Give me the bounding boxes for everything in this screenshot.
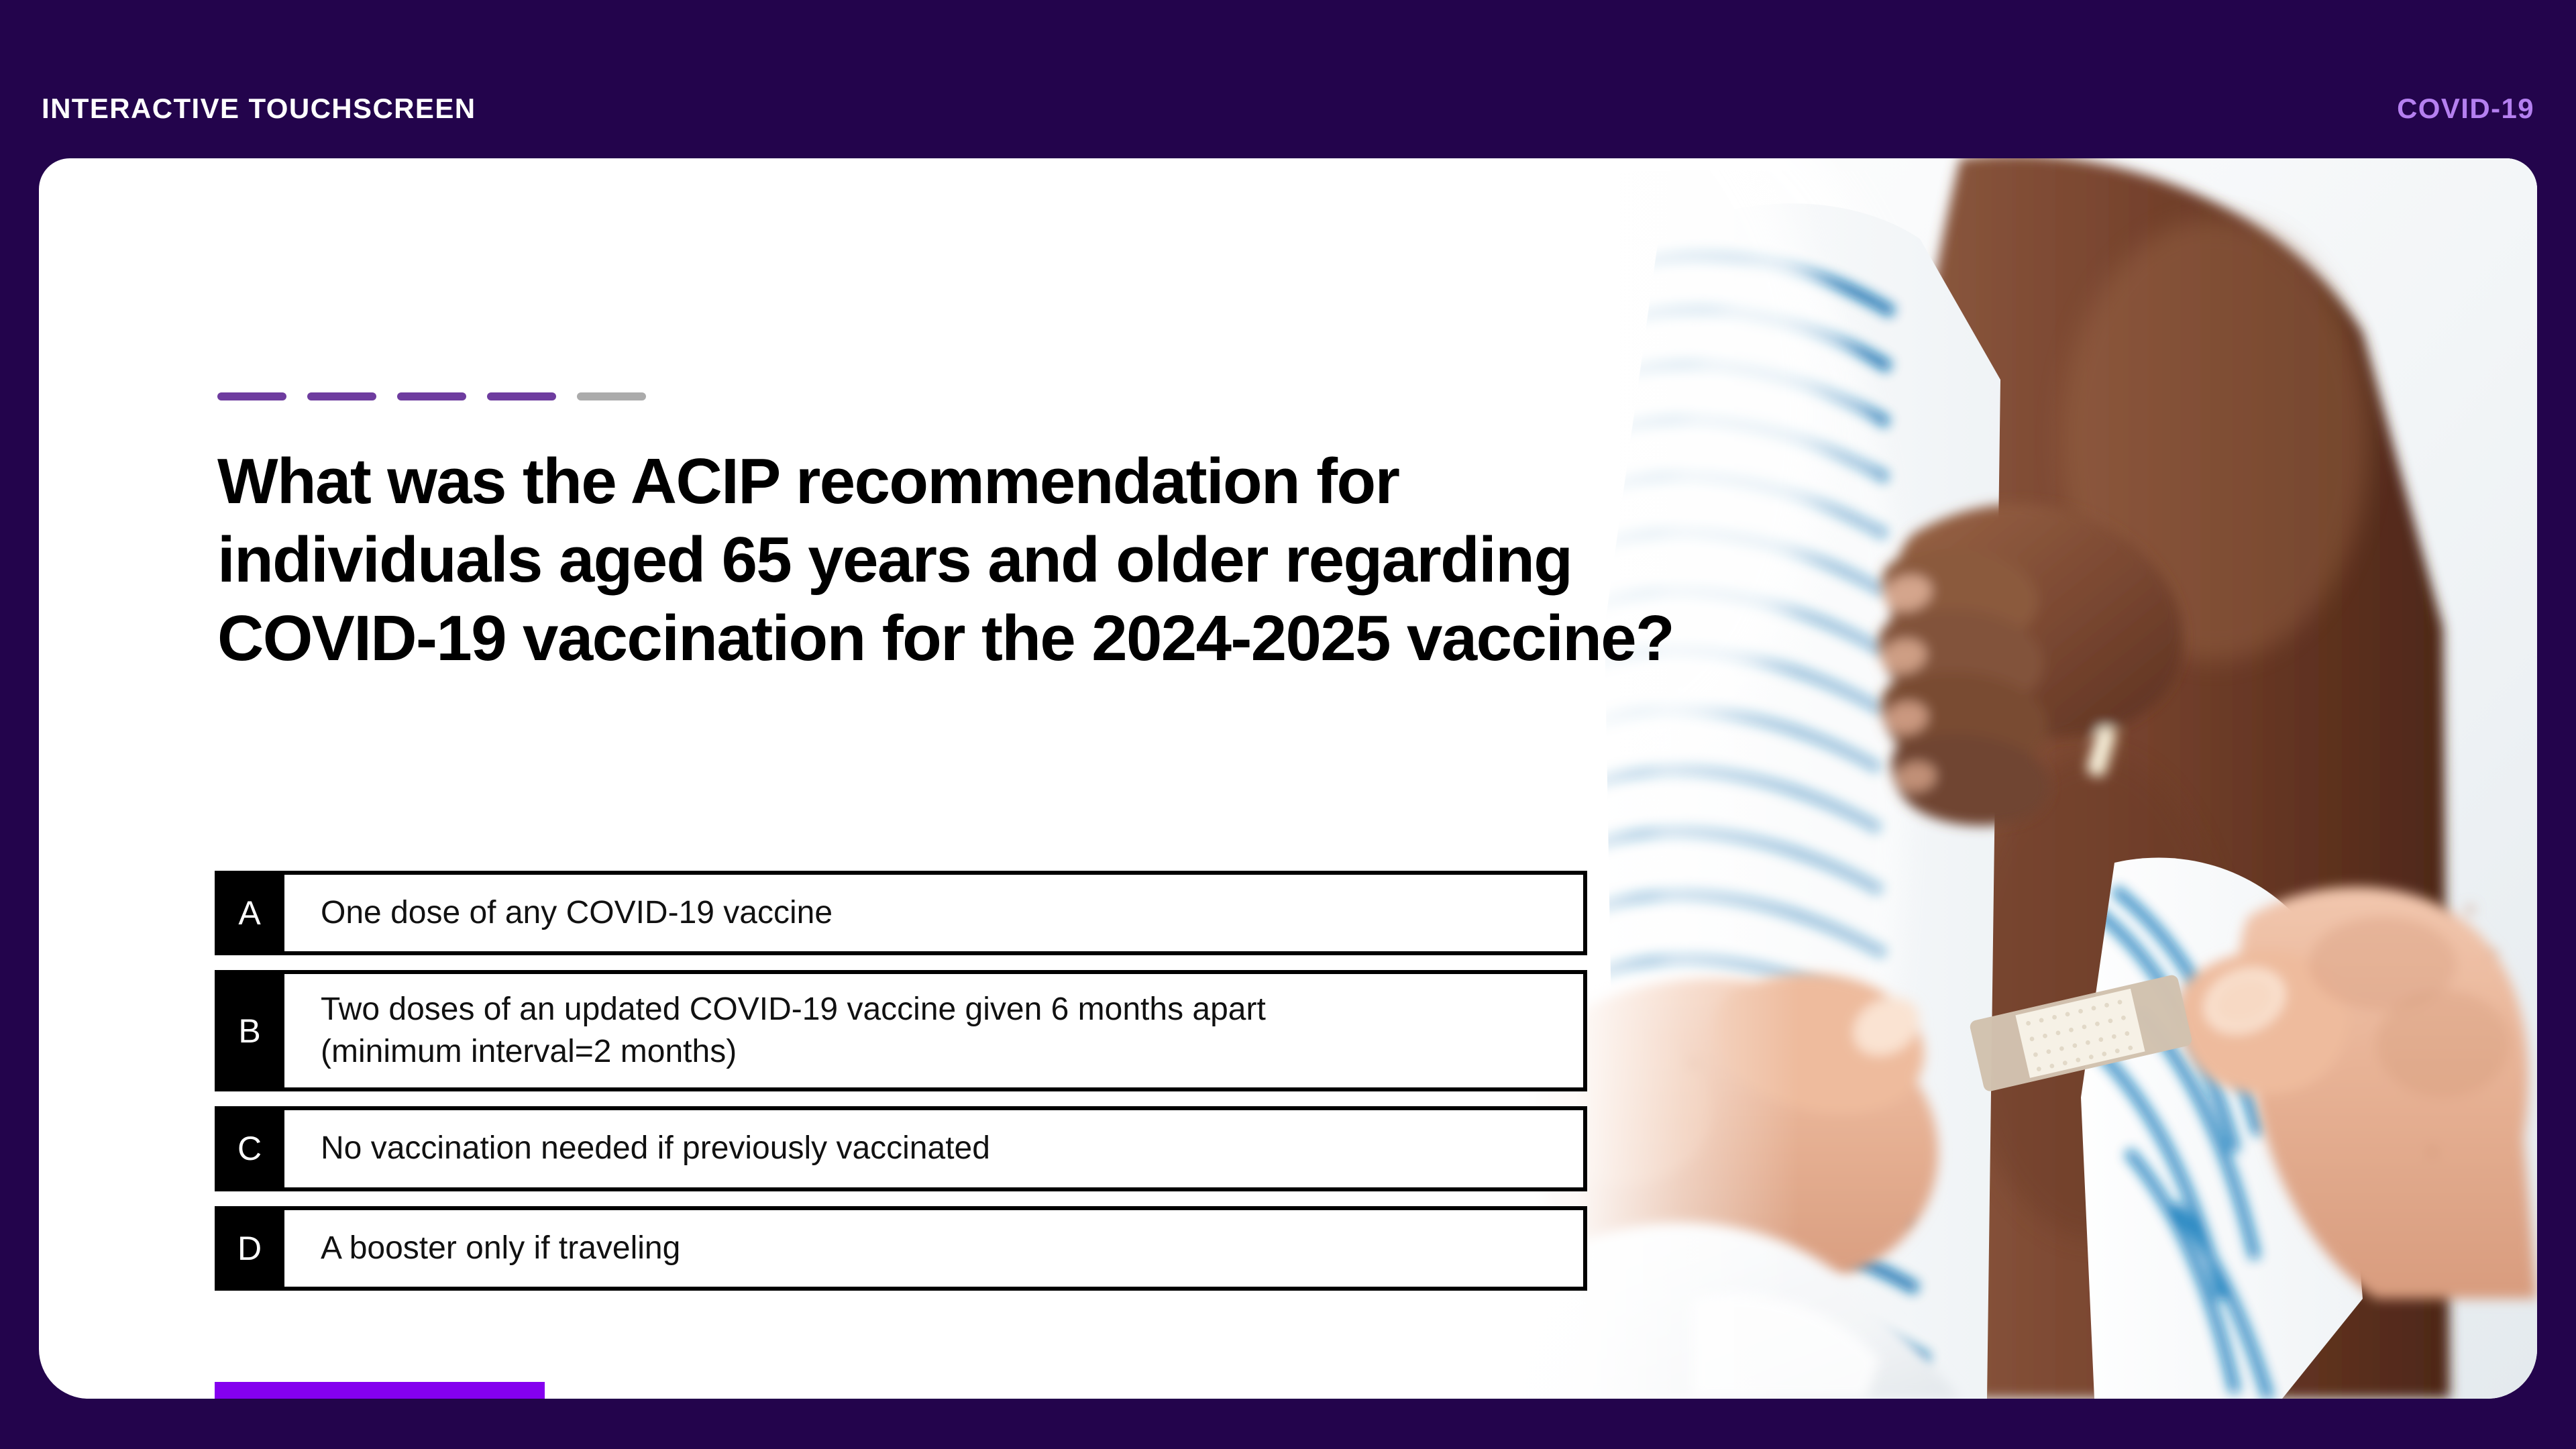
progress-segment-3 — [397, 392, 466, 400]
option-text-d: A booster only if traveling — [284, 1210, 1583, 1287]
option-letter-a: A — [215, 871, 284, 955]
option-text-a: One dose of any COVID-19 vaccine — [284, 875, 1583, 951]
question-text: What was the ACIP recommendation for ind… — [217, 442, 1720, 678]
option-letter-d: D — [215, 1206, 284, 1291]
top-header-bar: INTERACTIVE TOUCHSCREEN COVID-19 — [0, 0, 2576, 158]
submit-button[interactable]: Submit — [215, 1382, 545, 1399]
progress-indicator — [217, 392, 646, 400]
header-topic-label: COVID-19 — [2397, 93, 2534, 125]
answer-option-b[interactable]: B Two doses of an updated COVID-19 vacci… — [215, 970, 1587, 1091]
question-card: What was the ACIP recommendation for ind… — [39, 158, 2537, 1399]
option-letter-c: C — [215, 1106, 284, 1191]
progress-segment-1 — [217, 392, 286, 400]
header-left-label: INTERACTIVE TOUCHSCREEN — [42, 93, 476, 125]
progress-segment-5 — [577, 392, 646, 400]
answer-options-list: A One dose of any COVID-19 vaccine B Two… — [215, 871, 1587, 1305]
progress-segment-4 — [487, 392, 556, 400]
option-letter-b: B — [215, 970, 284, 1091]
vaccination-photo — [1491, 158, 2537, 1399]
progress-segment-2 — [307, 392, 376, 400]
option-text-b: Two doses of an updated COVID-19 vaccine… — [284, 974, 1583, 1087]
answer-option-c[interactable]: C No vaccination needed if previously va… — [215, 1106, 1587, 1191]
option-text-c: No vaccination needed if previously vacc… — [284, 1110, 1583, 1187]
answer-option-a[interactable]: A One dose of any COVID-19 vaccine — [215, 871, 1587, 955]
answer-option-d[interactable]: D A booster only if traveling — [215, 1206, 1587, 1291]
